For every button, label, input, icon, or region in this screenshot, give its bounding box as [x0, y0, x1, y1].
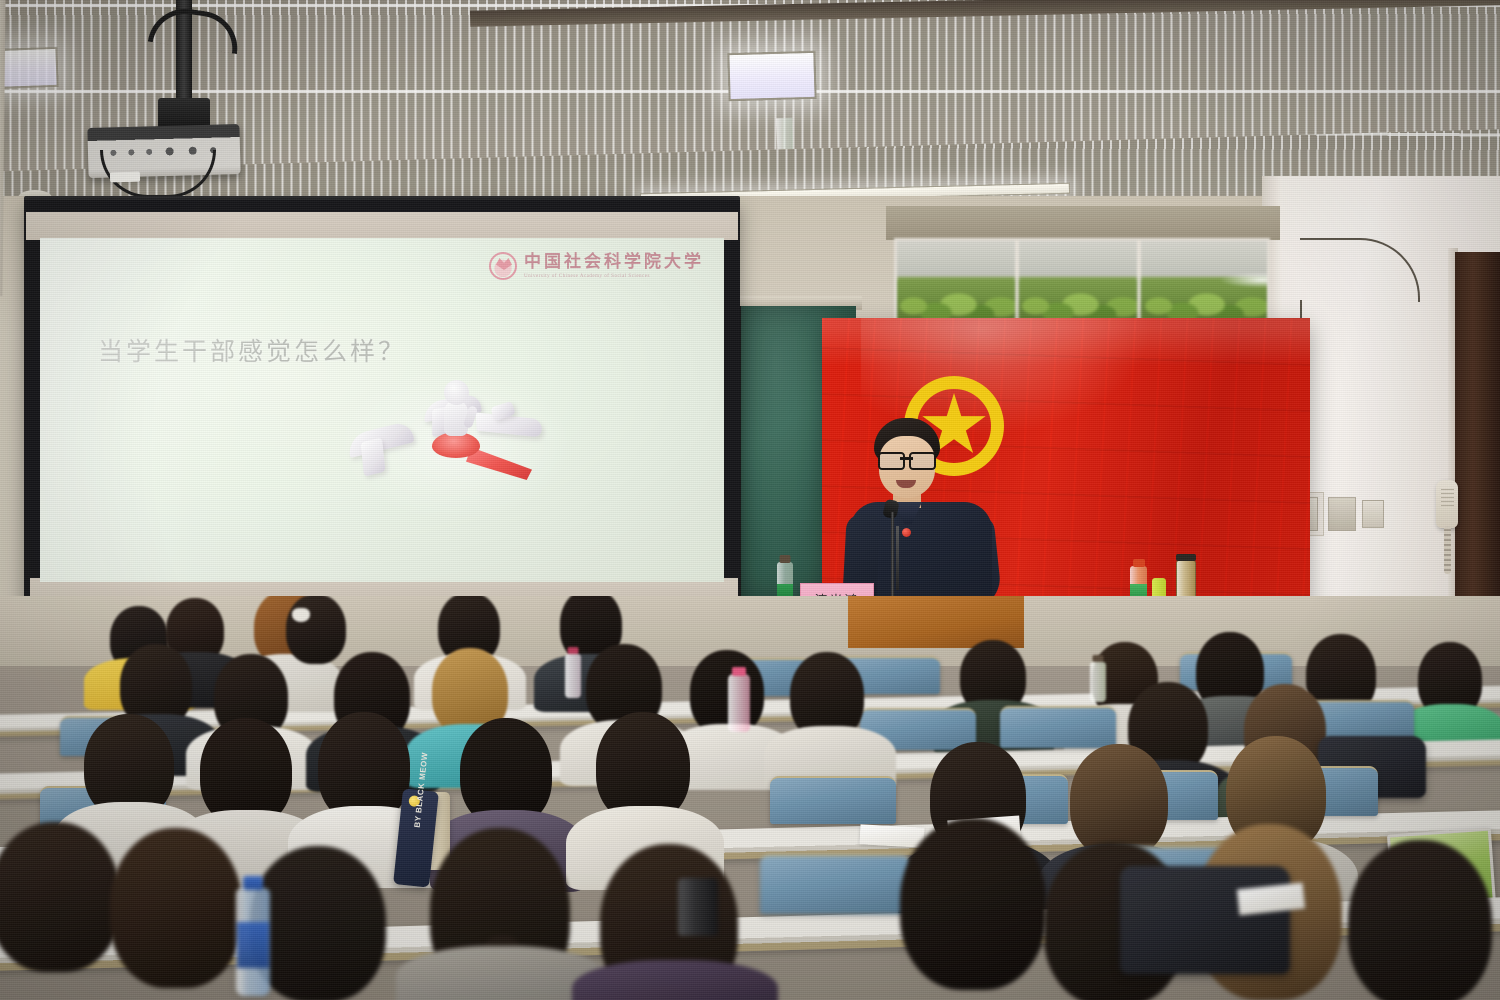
university-logo: 中国社会科学院大学 University of Chinese Academy …: [489, 252, 704, 280]
person-head: [286, 596, 346, 664]
water-bottle-foreground: [236, 888, 270, 996]
university-logo-mark-icon: [489, 252, 517, 280]
audience-area: BY BLACK MEOW: [0, 596, 1500, 1000]
tumbler-cup: [678, 878, 718, 936]
hair-clip-icon: [292, 608, 310, 622]
person-head: [250, 846, 386, 1000]
wall-phone-icon[interactable]: [1436, 480, 1458, 528]
university-name-en: University of Chinese Academy of Social …: [524, 274, 704, 279]
bottle-cap: [1093, 655, 1104, 662]
bottle-audience: [1090, 662, 1106, 702]
glasses-bridge: [900, 457, 913, 460]
wall-switch-panel-2[interactable]: [1328, 497, 1356, 531]
person-shoulders: [572, 960, 778, 1000]
bottle-audience: [728, 674, 750, 732]
bottle-cap: [732, 667, 746, 676]
person-head: [900, 818, 1046, 990]
window-sky: [1019, 241, 1137, 281]
lecture-hall-photo: 中国社会科学院大学 University of Chinese Academy …: [0, 0, 1500, 1000]
window-band: [894, 238, 1270, 330]
window-header-beam: [886, 206, 1280, 240]
phone-cord: [1444, 526, 1451, 574]
papers-on-desk: [860, 824, 925, 847]
seat[interactable]: [760, 854, 910, 914]
illustration-figure-head: [444, 380, 469, 405]
wall-outlet-panel[interactable]: [1362, 500, 1384, 528]
person-head: [110, 828, 242, 988]
bottle-audience: [565, 654, 581, 698]
slide-title: 当学生干部感觉怎么样？: [98, 332, 406, 368]
window-glare: [1219, 272, 1270, 288]
bottle-cap: [568, 647, 579, 654]
backpack-foreground: [1120, 866, 1290, 974]
window-pane-2: [1019, 241, 1141, 327]
bottle-label: [237, 922, 269, 968]
microphone-stand: [891, 512, 894, 608]
window-pane-1: [897, 241, 1019, 327]
bottle-cap: [780, 555, 791, 563]
university-logo-text: 中国社会科学院大学 University of Chinese Academy …: [524, 254, 704, 279]
window-pane-3: [1141, 241, 1267, 327]
person-head: [1070, 744, 1168, 858]
person-head: [0, 822, 120, 972]
lapel-mic-wire: [896, 526, 899, 590]
window-sky: [897, 241, 1015, 281]
projector-lens: [110, 172, 140, 183]
seat[interactable]: [770, 776, 896, 824]
bottle-cap: [1133, 559, 1145, 567]
lapel-pin-icon: [902, 528, 911, 537]
projected-slide: 中国社会科学院大学 University of Chinese Academy …: [40, 238, 724, 582]
bottle-cap-icon: [243, 876, 263, 890]
screen-blank-top: [26, 212, 738, 240]
person-head: [1348, 840, 1492, 1000]
ceiling-light-panel: [727, 51, 816, 101]
thermos-lid: [1176, 554, 1196, 561]
question-mark-stem-1: [361, 437, 386, 476]
backpack-label: BY BLACK MEOW: [413, 797, 425, 828]
seat[interactable]: [1000, 706, 1116, 748]
university-name-cn: 中国社会科学院大学: [524, 254, 704, 271]
ceiling-light-panel-left: [0, 47, 59, 89]
slide-illustration: [340, 374, 570, 514]
